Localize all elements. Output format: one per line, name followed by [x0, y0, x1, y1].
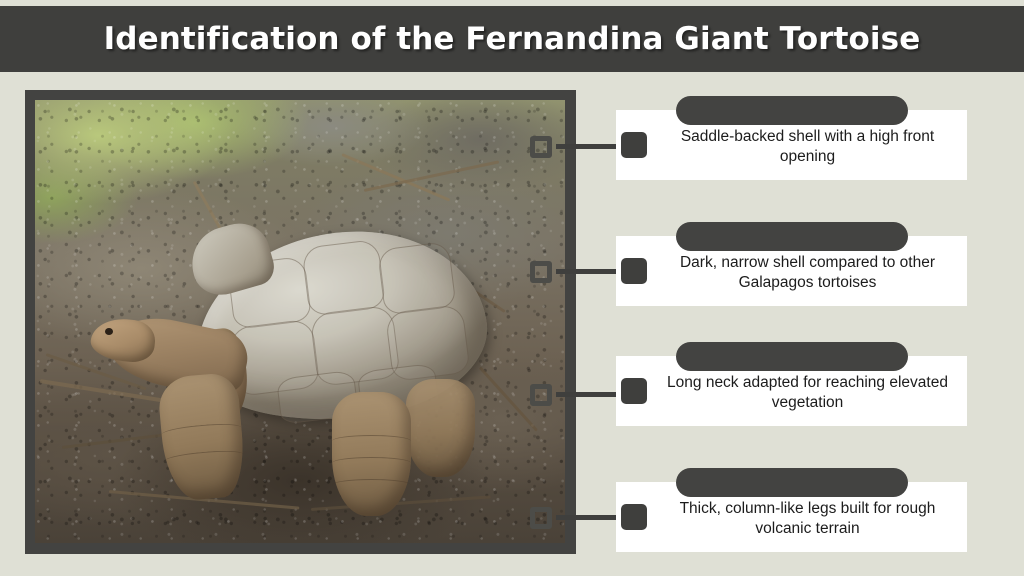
callout-pill: [676, 468, 908, 497]
photo-frame: [25, 90, 576, 554]
callout-text: Saddle-backed shell with a high front op…: [654, 127, 961, 168]
callout-marker-icon: [621, 504, 647, 530]
photo-marker-thick-legs[interactable]: [530, 507, 552, 529]
leg-skin-ring: [332, 479, 412, 491]
leg-skin-ring: [332, 457, 412, 469]
callout-pill: [676, 96, 908, 125]
shell-scute: [377, 241, 456, 315]
tortoise-head: [89, 316, 157, 364]
title-bar: Identification of the Fernandina Giant T…: [0, 6, 1024, 72]
tortoise-photo: [35, 100, 565, 543]
callout-text: Dark, narrow shell compared to other Gal…: [654, 253, 961, 294]
callout-text: Thick, column-like legs built for rough …: [654, 499, 961, 540]
tortoise-rear-leg-far: [406, 379, 475, 476]
photo-marker-dark-narrow-shell[interactable]: [530, 261, 552, 283]
leg-skin-ring: [332, 435, 412, 447]
callout-marker-icon: [621, 132, 647, 158]
page-title: Identification of the Fernandina Giant T…: [104, 21, 921, 57]
shell-scute: [301, 239, 387, 317]
callout-card-dark-narrow-shell[interactable]: Dark, narrow shell compared to other Gal…: [616, 236, 967, 306]
tortoise-illustration: [35, 100, 565, 543]
callout-marker-icon: [621, 378, 647, 404]
tortoise-rear-leg: [332, 392, 412, 516]
tortoise-front-leg: [157, 371, 247, 501]
photo-marker-long-neck[interactable]: [530, 384, 552, 406]
callout-card-long-neck[interactable]: Long neck adapted for reaching elevated …: [616, 356, 967, 426]
callout-card-thick-legs[interactable]: Thick, column-like legs built for rough …: [616, 482, 967, 552]
callout-pill: [676, 222, 908, 251]
leg-skin-ring: [164, 448, 244, 467]
photo-marker-saddle-backed-shell[interactable]: [530, 136, 552, 158]
callout-pill: [676, 342, 908, 371]
callout-text: Long neck adapted for reaching elevated …: [654, 373, 961, 414]
callout-card-saddle-backed-shell[interactable]: Saddle-backed shell with a high front op…: [616, 110, 967, 180]
callout-marker-icon: [621, 258, 647, 284]
leg-skin-ring: [161, 421, 241, 440]
